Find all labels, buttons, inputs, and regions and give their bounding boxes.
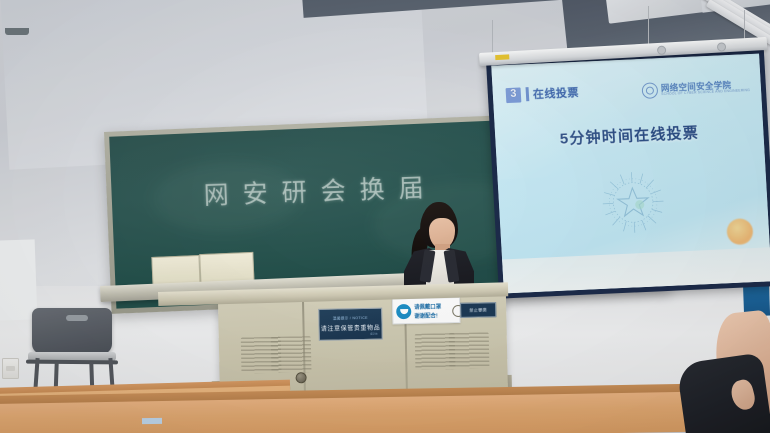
foreground-sleeve bbox=[676, 352, 770, 433]
chair-backrest bbox=[32, 308, 112, 354]
housing-sticker bbox=[495, 54, 509, 60]
screen-surface: 3 在线投票 网络空间安全学院 SCHOOL OF CYBER SCIENCE … bbox=[491, 54, 770, 294]
mask-sign-line-1: 请佩戴口罩 bbox=[414, 302, 441, 311]
mask-sign-line-2: 谢谢配合! bbox=[414, 311, 441, 320]
housing-screw-1 bbox=[657, 46, 666, 55]
podium-small-label: 禁止攀爬 bbox=[460, 302, 496, 318]
logo-seal-icon bbox=[642, 82, 659, 99]
slide-section-label: 在线投票 bbox=[532, 84, 579, 102]
device-base bbox=[5, 28, 29, 35]
logo-text: 网络空间安全学院 SCHOOL OF CYBER SCIENCE AND ENG… bbox=[661, 80, 751, 97]
cabinet-vent-2 bbox=[271, 336, 312, 373]
presentation-slide: 3 在线投票 网络空间安全学院 SCHOOL OF CYBER SCIENCE … bbox=[491, 54, 770, 294]
housing-screw-2 bbox=[717, 42, 726, 51]
chair-frame-rail bbox=[26, 360, 118, 365]
slide-accent-bar bbox=[526, 87, 530, 101]
mask-notice-sign: 请佩戴口罩 谢谢配合! bbox=[392, 297, 461, 324]
slide-section-number: 3 bbox=[506, 87, 522, 103]
star-burst-emblem-icon bbox=[598, 168, 668, 237]
chair-handle-slot bbox=[66, 315, 88, 321]
cabinet-vent-4 bbox=[449, 332, 490, 369]
slide-footer bbox=[502, 247, 770, 293]
classroom-photo: 网安研会换届 3 在线投票 网络空间安全学院 SCHOOL OF CY bbox=[0, 0, 770, 433]
desk-card bbox=[142, 418, 162, 424]
projection-screen[interactable]: 3 在线投票 网络空间安全学院 SCHOOL OF CYBER SCIENCE … bbox=[486, 48, 770, 298]
slide-title: 5分钟时间在线投票 bbox=[495, 119, 764, 152]
valuables-sign-sub-line: 保卫处 bbox=[370, 332, 378, 336]
screen-cable-left bbox=[492, 20, 493, 56]
valuables-notice-sign: 温馨提示 / NOTICE 请注意保管贵重物品 保卫处 bbox=[318, 308, 383, 341]
power-outlet-1[interactable] bbox=[2, 358, 19, 379]
foreground-person bbox=[688, 318, 770, 433]
school-logo: 网络空间安全学院 SCHOOL OF CYBER SCIENCE AND ENG… bbox=[642, 78, 751, 99]
valuables-sign-top-line: 温馨提示 / NOTICE bbox=[333, 316, 368, 322]
slide-decor-circle bbox=[726, 218, 753, 245]
slide-section-header: 3 在线投票 bbox=[505, 84, 579, 103]
podium-small-label-text: 禁止攀爬 bbox=[469, 307, 487, 313]
mask-sign-text: 请佩戴口罩 谢谢配合! bbox=[414, 302, 441, 320]
face-mask-icon bbox=[396, 303, 411, 318]
